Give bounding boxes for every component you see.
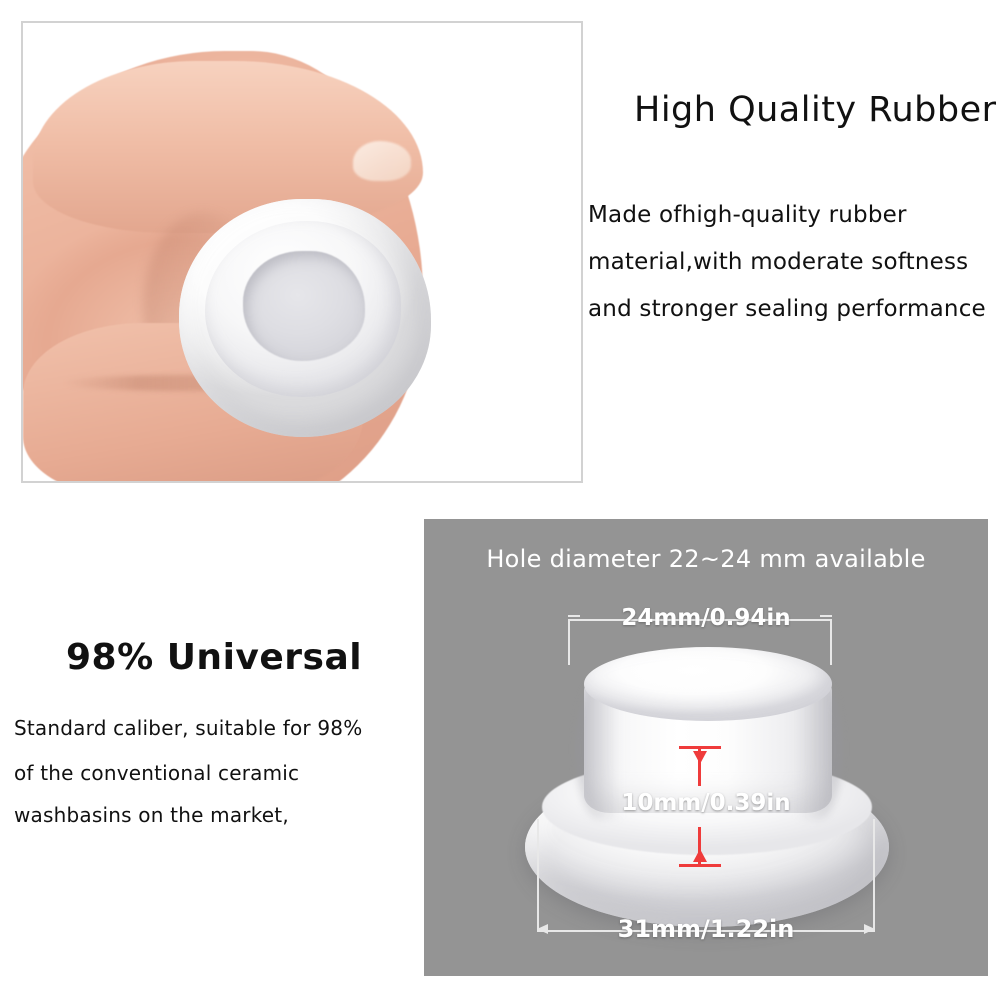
dimension-label-flange-diameter: 31mm/1.22in xyxy=(424,915,988,943)
universal-body-line-3: washbasins on the market, xyxy=(14,803,289,827)
product-photo-panel xyxy=(21,21,583,483)
rubber-plug-diagram xyxy=(512,639,902,929)
dimension-diagram-panel: Hole diameter 22~24 mm available 24mm/0.… xyxy=(424,519,988,976)
height-arrow-bottom-head-icon xyxy=(693,849,707,862)
plug-hole xyxy=(243,251,365,361)
fingernail-shape xyxy=(353,141,411,181)
rubber-body-line-2: material,with moderate softness xyxy=(588,249,968,275)
product-photo-image xyxy=(23,23,581,481)
plug-top-cap xyxy=(584,647,832,721)
rubber-body-line-1: Made ofhigh-quality rubber xyxy=(588,202,907,228)
rubber-heading: High Quality Rubber xyxy=(634,90,997,130)
diagram-title: Hole diameter 22~24 mm available xyxy=(424,545,988,573)
universal-heading: 98% Universal xyxy=(66,637,362,678)
dimension-label-top-diameter: 24mm/0.94in xyxy=(424,605,988,631)
rubber-plug-photo xyxy=(179,199,431,437)
infographic-canvas: High Quality Rubber Made ofhigh-quality … xyxy=(0,0,1000,1000)
universal-body-line-1: Standard caliber, suitable for 98% xyxy=(14,716,362,740)
dimension-label-height: 10mm/0.39in xyxy=(424,790,988,816)
height-arrow-bottom-bar xyxy=(679,864,721,867)
universal-body-line-2: of the conventional ceramic xyxy=(14,761,299,785)
rubber-body-line-3: and stronger sealing performance xyxy=(588,296,986,322)
height-arrow-top-head-icon xyxy=(693,751,707,764)
